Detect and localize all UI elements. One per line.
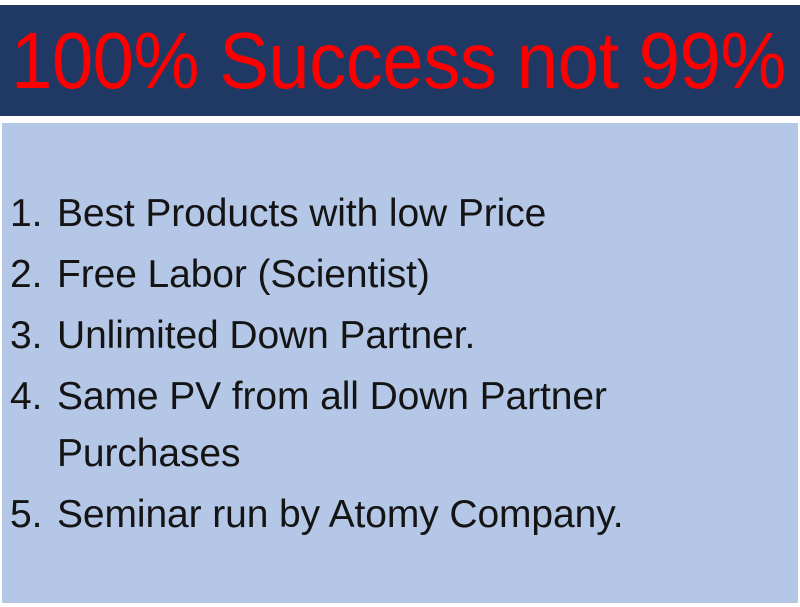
slide-canvas: 100% Success not 99% 1. Best Products wi… <box>0 0 800 607</box>
list-item-label: Free Labor (Scientist) <box>57 246 790 303</box>
list-item-label: Seminar run by Atomy Company. <box>57 486 790 543</box>
list-item-label: Same PV from all Down Partner Purchases <box>57 368 790 482</box>
content-panel: 1. Best Products with low Price 2. Free … <box>2 123 798 603</box>
list-item-marker: 5. <box>10 486 50 543</box>
list-item-label: Best Products with low Price <box>57 185 790 242</box>
list-item-label: Unlimited Down Partner. <box>57 307 790 364</box>
panel-bottom-edge <box>2 603 798 607</box>
list-item: 4. Same PV from all Down Partner Purchas… <box>10 368 790 482</box>
list-item: 5. Seminar run by Atomy Company. <box>10 486 790 543</box>
list-item: 3. Unlimited Down Partner. <box>10 307 790 364</box>
list-item-marker: 1. <box>10 185 50 242</box>
list-item: 2. Free Labor (Scientist) <box>10 246 790 303</box>
list-item-marker: 3. <box>10 307 50 364</box>
header-band: 100% Success not 99% <box>0 5 800 116</box>
list-item-marker: 2. <box>10 246 50 303</box>
page-title: 100% Success not 99% <box>11 21 786 101</box>
numbered-list: 1. Best Products with low Price 2. Free … <box>10 185 790 547</box>
list-item-marker: 4. <box>10 368 50 425</box>
list-item: 1. Best Products with low Price <box>10 185 790 242</box>
